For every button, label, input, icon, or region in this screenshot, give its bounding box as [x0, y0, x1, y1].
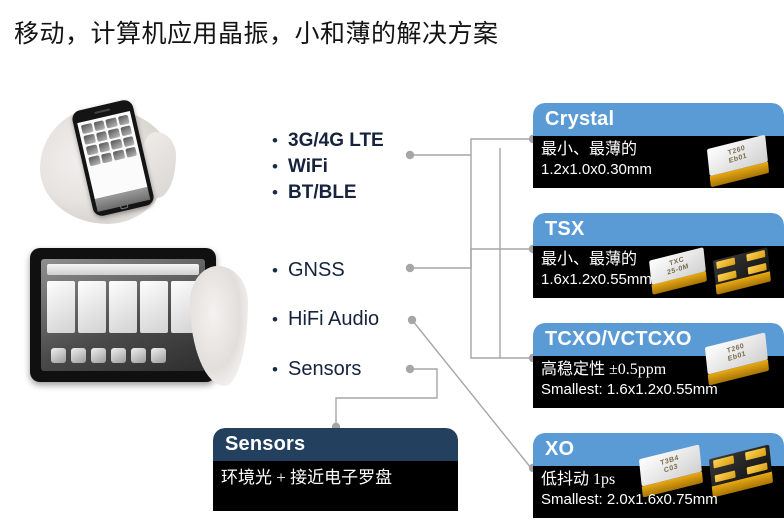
product-header-crystal: Crystal [533, 103, 784, 136]
connector-dot-connectivity [406, 151, 414, 159]
product-body-crystal: 最小、最薄的 1.2x1.0x0.30mm T260Eb01 [533, 136, 784, 188]
sensors-box-header: Sensors [213, 428, 458, 461]
product-spec-line-2: Smallest: 1.6x1.2x0.55mm [541, 380, 776, 400]
product-spec-line-2: Smallest: 2.0x1.6x0.75mm [541, 490, 776, 510]
product-title: Crystal [545, 108, 614, 131]
product-spec-line-2: 1.6x1.2x0.55mm [541, 270, 776, 290]
connector-endpoints [332, 135, 537, 472]
product-spec-line-1: 低抖动 1ps [541, 469, 776, 490]
connector-dot-hifi [408, 316, 416, 324]
product-spec-line-2: 1.2x1.0x0.30mm [541, 160, 776, 180]
sensors-box-body: 环境光 + 接近电子罗盘 [213, 461, 458, 511]
product-body-tsx: 最小、最薄的 1.6x1.2x0.55mm TXC25-0M [533, 246, 784, 298]
sensors-box[interactable]: Sensors 环境光 + 接近电子罗盘 [213, 428, 458, 511]
connector-connectivity-crystal [410, 139, 531, 155]
product-spec-line-1: 最小、最薄的 [541, 139, 776, 160]
connector-connectivity-tcxo [471, 155, 531, 358]
sensors-spec-line: 环境光 + 接近电子罗盘 [221, 467, 450, 490]
product-box-tsx[interactable]: TSX 最小、最薄的 1.6x1.2x0.55mm TXC25-0M [533, 213, 784, 298]
product-spec-line-1: 高稳定性 ±0.5ppm [541, 359, 776, 380]
product-box-xo[interactable]: XO 低抖动 1ps Smallest: 2.0x1.6x0.75mm T3B4… [533, 433, 784, 518]
product-spec-line-1: 最小、最薄的 [541, 249, 776, 270]
product-box-tcxo[interactable]: TCXO/VCTCXO 高稳定性 ±0.5ppm Smallest: 1.6x1… [533, 323, 784, 408]
product-title: XO [545, 438, 574, 461]
slide-canvas: 移动，计算机应用晶振，小和薄的解决方案 [0, 0, 784, 524]
connector-dot-sensors [406, 365, 414, 373]
product-header-tsx: TSX [533, 213, 784, 246]
product-title: TSX [545, 218, 585, 241]
connector-dot-gnss [406, 264, 414, 272]
product-body-xo: 低抖动 1ps Smallest: 2.0x1.6x0.75mm T3B4C03 [533, 466, 784, 518]
product-title: TCXO/VCTCXO [545, 328, 692, 351]
connector-gnss-tsx [410, 249, 531, 268]
sensors-box-title: Sensors [225, 433, 305, 456]
connector-sensors-box [336, 369, 437, 427]
product-box-crystal[interactable]: Crystal 最小、最薄的 1.2x1.0x0.30mm T260Eb01 [533, 103, 784, 188]
product-body-tcxo: 高稳定性 ±0.5ppm Smallest: 1.6x1.2x0.55mm T2… [533, 356, 784, 408]
